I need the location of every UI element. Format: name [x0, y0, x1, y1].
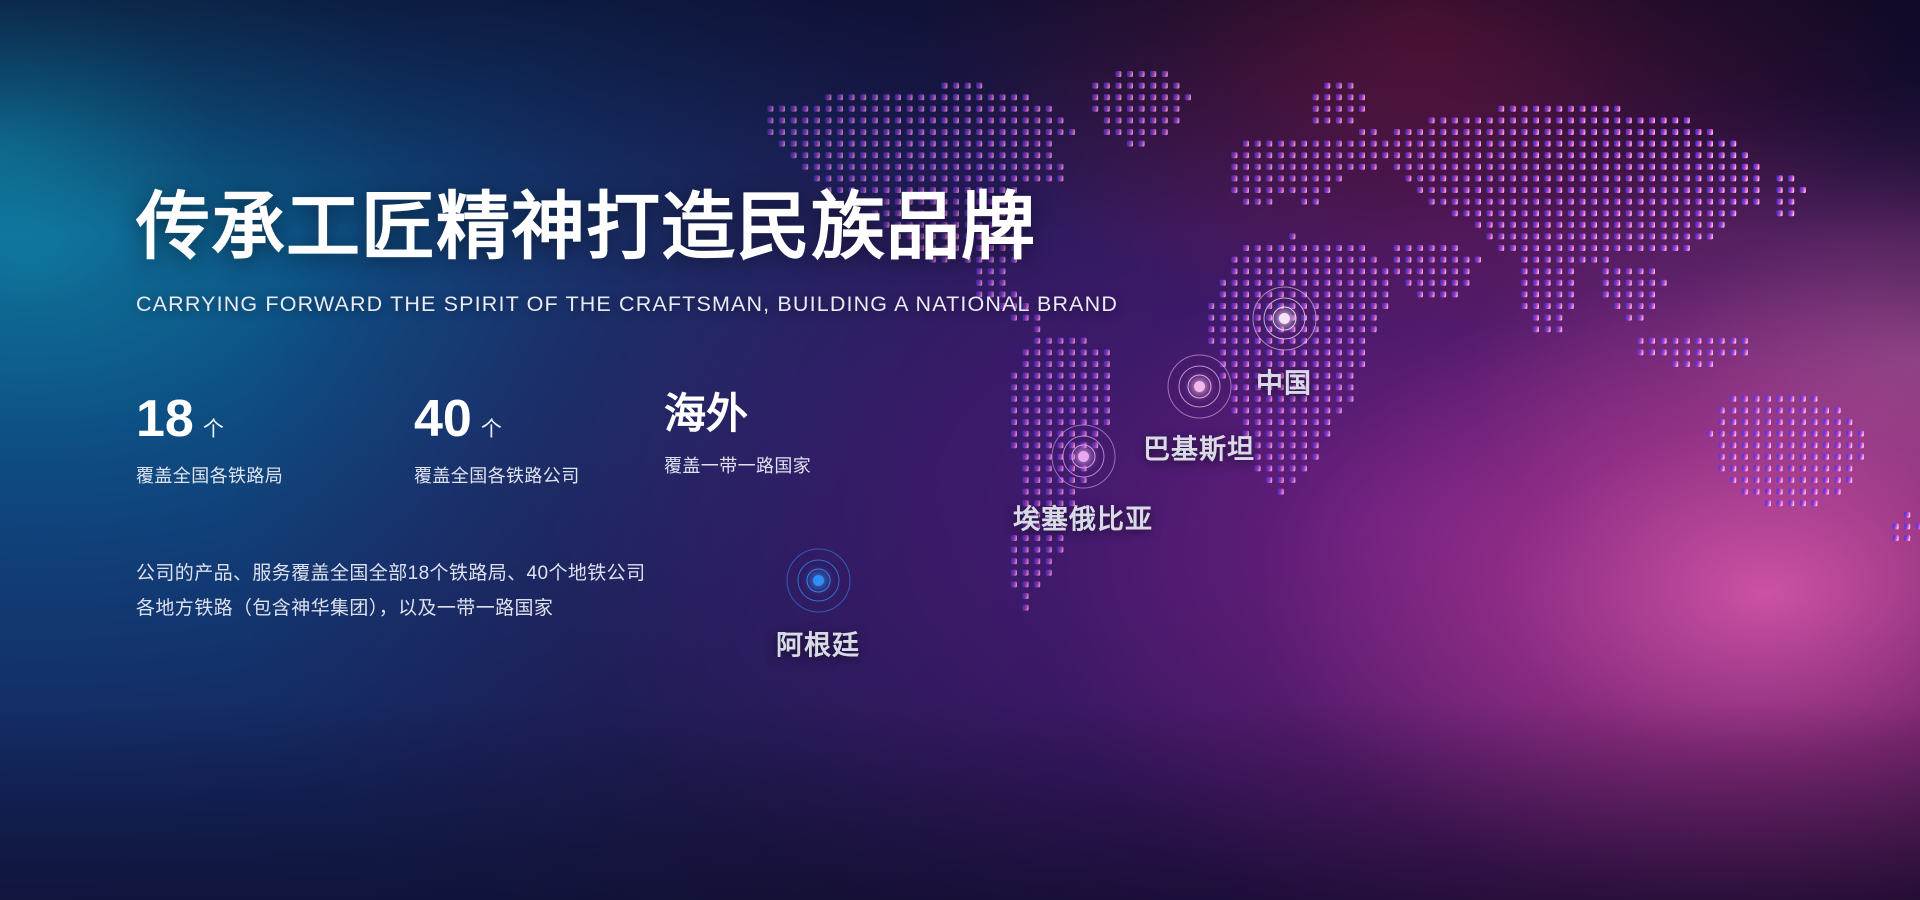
map-marker[interactable]: 中国: [1284, 318, 1285, 319]
marker-core-dot: [1194, 381, 1205, 392]
stat-item: 海外覆盖一带一路国家: [664, 393, 942, 488]
stat-unit: 个: [203, 413, 224, 443]
stat-value: 40: [414, 393, 472, 445]
stat-value-row: 18个: [136, 393, 414, 445]
marker-core-dot: [1078, 451, 1089, 462]
stat-description: 覆盖一带一路国家: [664, 452, 942, 478]
stat-value: 海外: [664, 393, 748, 435]
stat-value: 18: [136, 393, 194, 445]
marker-core-dot: [1279, 313, 1290, 324]
stat-item: 18个覆盖全国各铁路局: [136, 393, 414, 488]
map-marker[interactable]: 埃塞俄比亚: [1083, 456, 1084, 457]
stat-description: 覆盖全国各铁路公司: [414, 462, 664, 488]
map-marker-label: 中国: [1256, 362, 1312, 401]
hero-banner: 中国巴基斯坦埃塞俄比亚阿根廷 传承工匠精神打造民族品牌 CARRYING FOR…: [0, 0, 1920, 900]
description-line-2: 各地方铁路（包含神华集团），以及一带一路国家: [136, 591, 966, 626]
stat-description: 覆盖全国各铁路局: [136, 462, 414, 488]
page-subtitle: CARRYING FORWARD THE SPIRIT OF THE CRAFT…: [136, 292, 966, 317]
page-title: 传承工匠精神打造民族品牌: [136, 190, 966, 264]
description-block: 公司的产品、服务覆盖全国全部18个铁路局、40个地铁公司 各地方铁路（包含神华集…: [136, 556, 966, 626]
map-marker-label: 阿根廷: [776, 624, 860, 663]
stat-unit: 个: [481, 413, 502, 443]
description-line-1: 公司的产品、服务覆盖全国全部18个铁路局、40个地铁公司: [136, 556, 966, 591]
stat-item: 40个覆盖全国各铁路公司: [414, 393, 664, 488]
map-marker[interactable]: 巴基斯坦: [1199, 386, 1200, 387]
stats-row: 18个覆盖全国各铁路局40个覆盖全国各铁路公司海外覆盖一带一路国家: [136, 393, 966, 488]
map-marker-label: 巴基斯坦: [1143, 428, 1255, 467]
stat-value-row: 海外: [664, 393, 942, 435]
map-marker-label: 埃塞俄比亚: [1013, 498, 1153, 537]
hero-text-panel: 传承工匠精神打造民族品牌 CARRYING FORWARD THE SPIRIT…: [136, 190, 966, 626]
stat-value-row: 40个: [414, 393, 664, 445]
